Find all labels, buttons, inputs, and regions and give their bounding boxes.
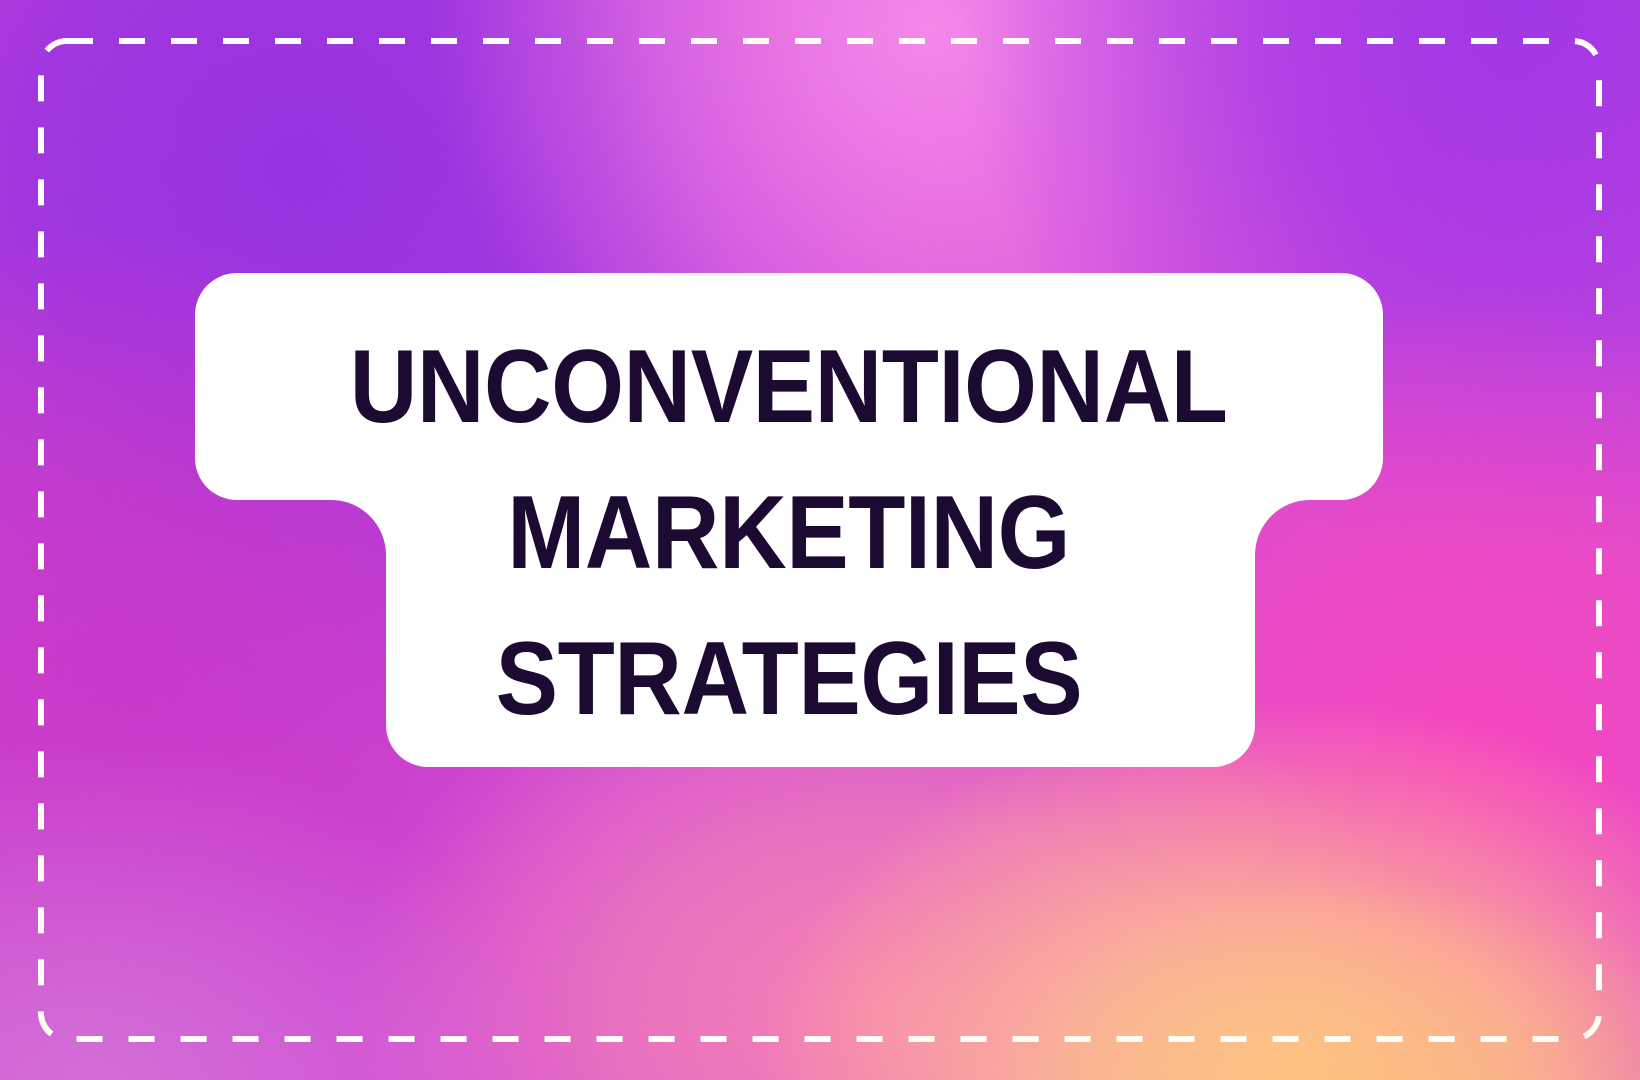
headline-line-2: MARKETING	[508, 481, 1071, 585]
headline-line-3: STRATEGIES	[496, 627, 1083, 731]
headline-text-group: UNCONVENTIONAL MARKETING STRATEGIES	[195, 273, 1383, 767]
poster-canvas: UNCONVENTIONAL MARKETING STRATEGIES	[0, 0, 1640, 1080]
headline-line-1: UNCONVENTIONAL	[350, 335, 1228, 439]
